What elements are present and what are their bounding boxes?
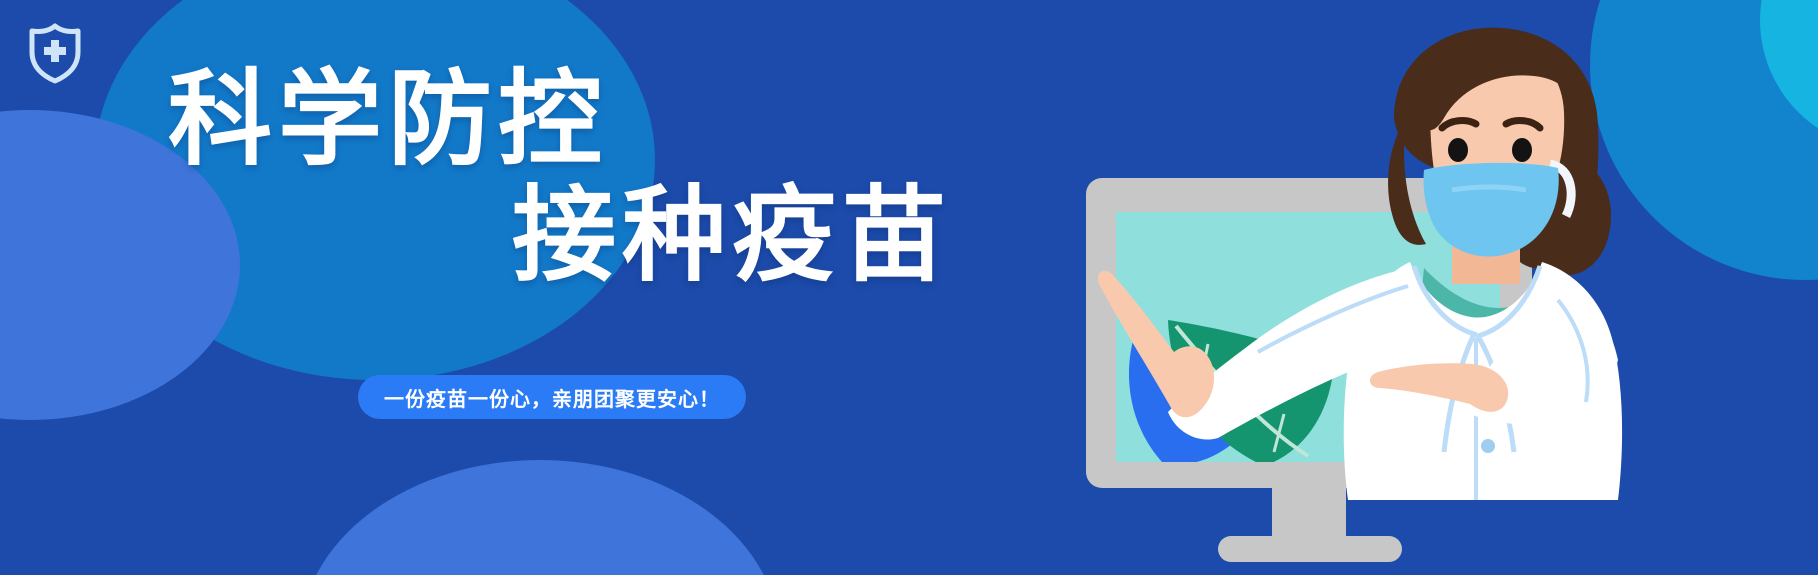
headline: 科学防控 接种疫苗 [0,62,1060,294]
doctor-eye-left [1448,138,1468,162]
vaccination-promo-banner: 科学防控 接种疫苗 一份疫苗一份心，亲朋团聚更安心！ [0,0,1818,575]
doctor-with-monitor-illustration [1058,0,1818,575]
doctor-eye-right [1512,138,1532,162]
subtitle-badge: 一份疫苗一份心，亲朋团聚更安心！ [358,375,746,419]
subtitle-text: 一份疫苗一份心，亲朋团聚更安心！ [384,383,720,412]
coat-button-2 [1481,439,1495,453]
headline-line-2: 接种疫苗 [0,178,1060,294]
headline-line-1: 科学防控 [0,62,1060,178]
decor-circle-periwinkle-bottom [300,460,780,575]
